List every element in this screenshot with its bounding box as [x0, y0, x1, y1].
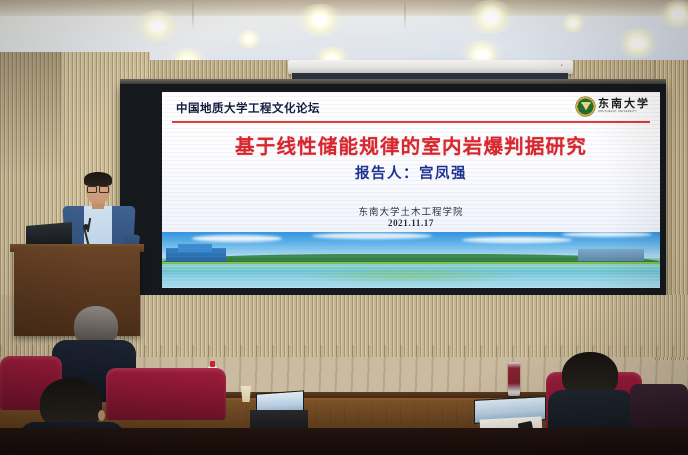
logo-wordmark: 东南大学 SOUTHEAST UNIVERSITY [598, 99, 650, 114]
presenter-hair [84, 172, 112, 186]
photo-cloud [562, 232, 652, 237]
projector-screen-housing: ● [288, 60, 573, 74]
ceiling-seam [192, 0, 194, 30]
thermos-tumbler [508, 362, 520, 396]
downlight-icon [236, 30, 262, 48]
photo-cloud [312, 233, 432, 239]
theater-seat-far-right [630, 384, 688, 434]
photo-cloud [462, 237, 572, 243]
downlight-icon [616, 28, 660, 58]
housing-brand-label: ● [561, 63, 563, 67]
header-divider [172, 121, 650, 123]
forum-banner-text: 中国地质大学工程文化论坛 [176, 100, 320, 116]
photo-building-upper [178, 244, 212, 252]
slide-date: 2021.11.17 [162, 218, 660, 228]
downlight-icon [134, 10, 180, 42]
photo-water-ripples [162, 266, 660, 288]
ceiling-seam [404, 0, 406, 30]
ceiling-edge-trim [0, 0, 688, 16]
downlight-icon [296, 4, 344, 36]
logo-english-name: SOUTHEAST UNIVERSITY [598, 111, 650, 114]
photo-right-building [578, 249, 644, 261]
glasses-icon [87, 186, 109, 191]
downlight-icon [560, 14, 586, 32]
podium-mic-head [83, 224, 89, 230]
theater-seat [106, 368, 226, 420]
logo-chinese-name: 东南大学 [598, 99, 650, 110]
audience-ear [98, 410, 105, 421]
slide-header: 中国地质大学工程文化论坛 东南大学 SOUTHEAST UNIVERSITY [162, 96, 660, 122]
foreground-shadow [0, 428, 688, 455]
lecture-hall-screenshot: ● 中国地质大学工程文化论坛 东南大学 SOUTHEAST UNIVERSITY… [0, 0, 688, 455]
campus-lake-photo [162, 232, 660, 288]
slide-affiliation: 东南大学土木工程学院 [162, 204, 660, 218]
slide-title: 基于线性储能规律的室内岩爆判据研究 [162, 130, 660, 159]
southeast-university-logo: 东南大学 SOUTHEAST UNIVERSITY [576, 97, 650, 116]
presentation-slide: 中国地质大学工程文化论坛 东南大学 SOUTHEAST UNIVERSITY 基… [162, 92, 660, 288]
slide-presenter: 报告人：宫凤强 [162, 162, 660, 183]
university-emblem-icon [576, 97, 595, 116]
wall-shadow [0, 52, 62, 172]
photo-cloud [192, 235, 282, 242]
downlight-icon [466, 0, 516, 34]
